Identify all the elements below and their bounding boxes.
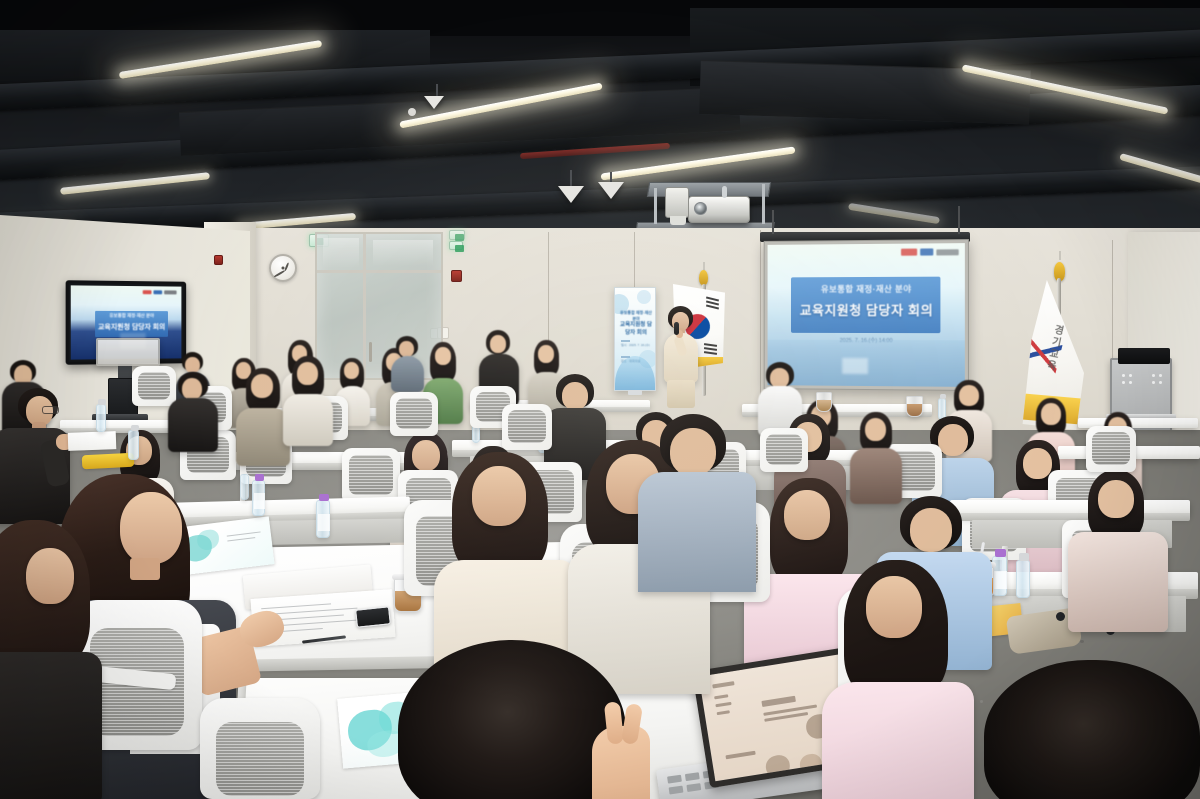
flag-finial — [699, 270, 708, 285]
water-bottle — [240, 474, 249, 500]
projector-arm — [654, 188, 657, 224]
iced-coffee-cup — [816, 392, 832, 412]
banner-note-1: 일시 · 2025. 7. 16.(수) — [621, 343, 650, 347]
banner-line-2: 교육지원청 담당자 회의 — [619, 320, 653, 336]
projector-lens — [694, 202, 707, 215]
emergency-exit-sign — [449, 241, 463, 250]
wall-clock — [269, 254, 297, 282]
screen-cord — [958, 206, 960, 234]
banner-divider — [621, 340, 630, 342]
fire-alarm — [451, 270, 462, 282]
iced-coffee-cup — [906, 396, 923, 417]
gyeonggi-education-logo — [901, 248, 959, 256]
trigram-mark — [704, 351, 717, 355]
ceiling-sensor — [408, 108, 416, 116]
door-mullion — [363, 234, 366, 378]
water-bottle — [96, 404, 106, 432]
fire-alarm — [214, 255, 223, 265]
trigram-mark — [704, 347, 717, 351]
conference-room-photo: 유보통합 재정·재산 분야 교육지원청 담당자 회의 유보통합 재정·재산 분야… — [0, 0, 1200, 799]
water-bottle — [316, 500, 330, 538]
water-bottle — [128, 430, 139, 460]
smartphone — [355, 606, 391, 627]
water-bottle — [252, 480, 265, 516]
banner-base — [628, 390, 642, 395]
screen-cord — [772, 210, 774, 234]
chair-caster — [1056, 612, 1065, 621]
tv-slide-title: 교육지원청 담당자 회의 — [96, 322, 167, 332]
slide-title: 교육지원청 담당자 회의 — [795, 300, 938, 319]
wall-whiteboard[interactable] — [96, 338, 160, 366]
microphone — [674, 322, 679, 335]
door-handle[interactable] — [369, 342, 372, 362]
slide-building-graphic — [842, 358, 868, 374]
handout-document — [68, 431, 117, 451]
clock-hub — [282, 267, 285, 270]
ceiling-speaker — [558, 186, 584, 203]
clock-minute-hand — [274, 270, 285, 277]
projection-screen: 유보통합 재정·재산 분야 교육지원청 담당자 회의 2025. 7. 16.(… — [764, 239, 969, 391]
institution-flag-text: 경기교육 — [1041, 323, 1066, 373]
tv-logo — [143, 290, 177, 294]
ceiling-camera — [665, 187, 689, 218]
tv-slide-subtitle: 유보통합 재정·재산 분야 — [98, 313, 165, 319]
whiteboard-display — [1118, 348, 1170, 364]
flag-finial-tip — [1059, 251, 1061, 260]
banner-bubble — [637, 290, 651, 304]
projector-arm — [762, 184, 765, 224]
glass-reflection — [373, 240, 433, 266]
door-mullion — [317, 270, 441, 273]
presenter-lower-body — [667, 380, 695, 408]
ceiling-speaker — [424, 96, 444, 109]
slide-subtitle: 유보통합 재정·재산 분야 — [801, 283, 933, 295]
projection-screen-surface: 유보통합 재정·재산 분야 교육지원청 담당자 회의 2025. 7. 16.(… — [768, 243, 965, 387]
roll-up-banner: 유보통합 재정·재산 분야 교육지원청 담당자 회의 일시 · 2025. 7.… — [614, 287, 656, 391]
projector-cable — [722, 186, 727, 198]
trigram-mark — [704, 343, 717, 347]
glass-partition-door[interactable] — [315, 232, 443, 380]
emergency-exit-sign — [449, 230, 465, 240]
pencil-case — [82, 453, 135, 470]
clock-hour-hand — [284, 262, 289, 271]
water-bottle — [1016, 560, 1030, 598]
wall-seam — [760, 230, 761, 410]
glass-reflection — [323, 238, 359, 268]
ceiling-speaker — [598, 182, 624, 199]
eyeglasses — [42, 406, 59, 414]
